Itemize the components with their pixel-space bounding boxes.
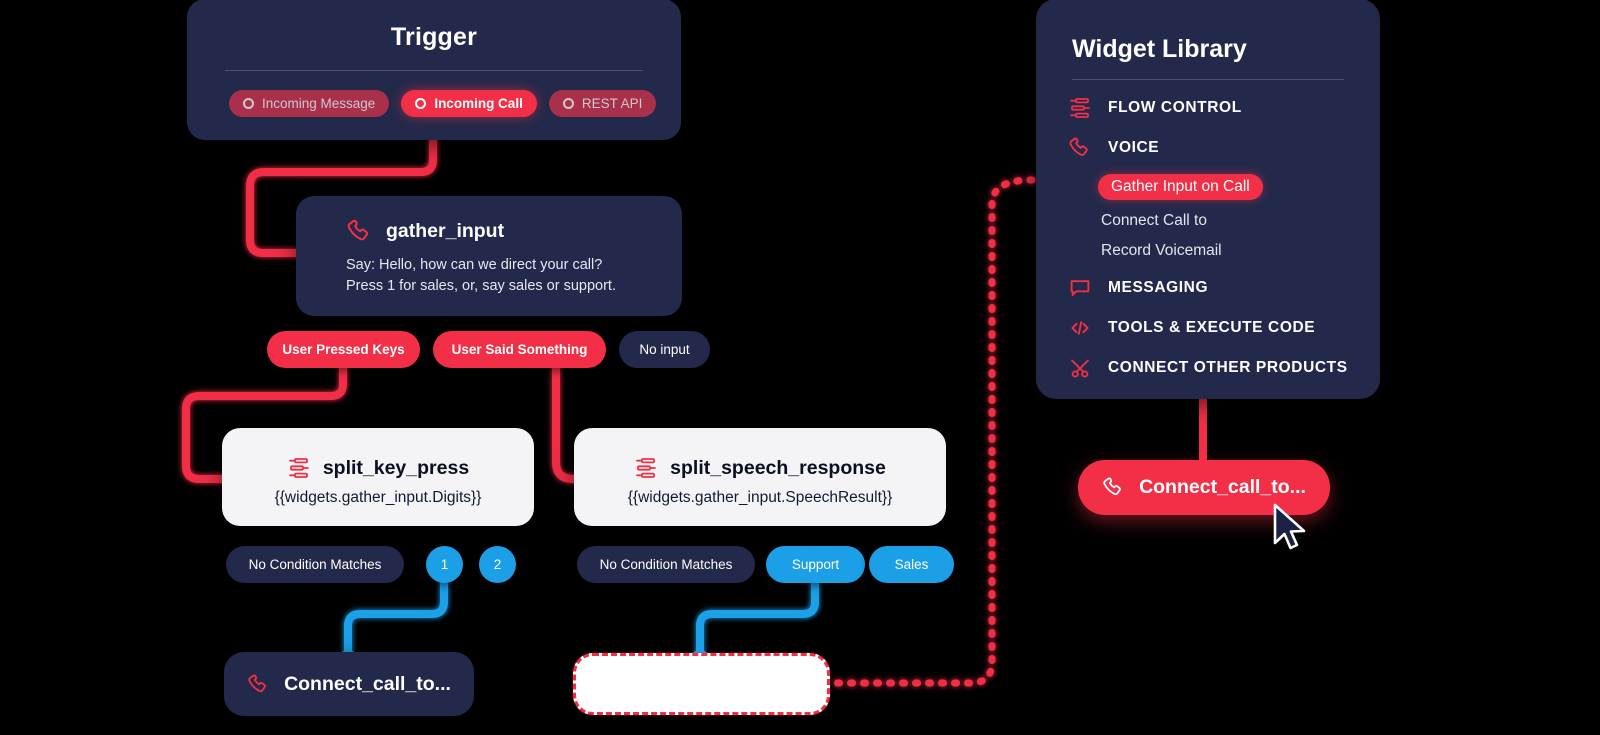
arrow-pointer-icon [1272,503,1312,553]
flow-canvas[interactable]: Trigger Incoming Message Incoming Call R… [0,0,1600,735]
widget-drop-zone[interactable] [573,653,830,715]
node-body-line-1: Say: Hello, how can we direct your call? [346,255,682,276]
widget-item-gather-input-on-call[interactable]: Gather Input on Call [1098,174,1263,200]
divider [225,70,643,71]
node-body: Say: Hello, how can we direct your call?… [346,255,682,296]
widget-item-label: Record Voicemail [1101,242,1222,259]
message-icon [1068,276,1092,300]
trigger-title: Trigger [187,23,681,52]
node-title: Connect_call_to... [284,673,451,696]
node-split-key-press[interactable]: split_key_press {{widgets.gather_input.D… [222,428,534,526]
trigger-pill-row: Incoming Message Incoming Call REST API [229,90,681,117]
transition-label: No Condition Matches [600,557,733,572]
transition-label: No Condition Matches [249,557,382,572]
transition-user-pressed-keys[interactable]: User Pressed Keys [267,331,420,368]
trigger-pill-incoming-message[interactable]: Incoming Message [229,90,389,117]
widget-item-label: Connect Call to [1101,212,1207,229]
phone-icon [346,218,373,245]
transition-no-condition-matches-key[interactable]: No Condition Matches [226,546,404,583]
widget-category-flow-control[interactable]: FLOW CONTROL [1068,96,1380,120]
transition-support[interactable]: Support [766,546,865,583]
node-title: gather_input [386,220,504,243]
trigger-pill-label: Incoming Call [434,96,523,111]
transition-key-1[interactable]: 1 [426,546,463,583]
phone-icon [1068,136,1092,160]
trigger-pill-label: REST API [582,96,643,111]
transition-label: Support [792,557,839,572]
widget-category-messaging[interactable]: MESSAGING [1068,276,1380,300]
node-expression: {{widgets.gather_input.SpeechResult}} [574,489,946,507]
transition-no-condition-matches-speech[interactable]: No Condition Matches [577,546,755,583]
radio-icon [415,98,426,109]
node-expression: {{widgets.gather_input.Digits}} [222,489,534,507]
widget-category-label: MESSAGING [1108,279,1208,297]
transition-key-2[interactable]: 2 [479,546,516,583]
trigger-pill-incoming-call[interactable]: Incoming Call [401,90,537,117]
widget-library-panel[interactable]: Widget Library FLOW CONTROL VOICE Gather… [1036,0,1380,399]
widget-item-connect-call-to[interactable]: Connect Call to [1101,212,1380,230]
node-title: split_key_press [323,457,469,480]
radio-icon [563,98,574,109]
radio-icon [243,98,254,109]
node-title: Connect_call_to... [1139,476,1306,499]
connect-products-icon [1068,356,1092,380]
node-header: split_key_press [222,456,534,480]
flow-control-icon [287,456,311,480]
phone-icon [1102,476,1125,499]
widget-category-label: CONNECT OTHER PRODUCTS [1108,359,1348,377]
node-header: gather_input [346,218,682,245]
transition-label: User Said Something [452,342,588,357]
widget-category-connect-other-products[interactable]: CONNECT OTHER PRODUCTS [1068,356,1380,380]
transition-label: 1 [441,557,449,572]
node-header: split_speech_response [574,456,946,480]
phone-icon [247,673,270,696]
widget-category-voice[interactable]: VOICE [1068,136,1380,160]
trigger-pill-rest-api[interactable]: REST API [549,90,657,117]
node-connect-call-to[interactable]: Connect_call_to... [224,652,474,716]
transition-label: User Pressed Keys [282,342,404,357]
transition-sales[interactable]: Sales [869,546,954,583]
trigger-pill-label: Incoming Message [262,96,375,111]
trigger-card[interactable]: Trigger Incoming Message Incoming Call R… [187,0,681,140]
flow-control-icon [634,456,658,480]
node-header: Connect_call_to... [224,652,474,716]
widget-item-record-voicemail[interactable]: Record Voicemail [1101,242,1380,260]
node-body-line-2: Press 1 for sales, or, say sales or supp… [346,276,682,297]
transition-no-input[interactable]: No input [619,331,710,368]
code-icon [1068,316,1092,340]
transition-label: No input [639,342,689,357]
node-gather-input[interactable]: gather_input Say: Hello, how can we dire… [296,196,682,316]
divider [1072,79,1344,80]
widget-category-label: VOICE [1108,139,1159,157]
transition-label: 2 [494,557,502,572]
node-split-speech-response[interactable]: split_speech_response {{widgets.gather_i… [574,428,946,526]
widget-category-label: TOOLS & EXECUTE CODE [1108,319,1315,337]
widget-item-label: Gather Input on Call [1111,178,1250,195]
node-title: split_speech_response [670,457,886,480]
widget-library-title: Widget Library [1072,35,1380,64]
transition-label: Sales [895,557,929,572]
widget-category-label: FLOW CONTROL [1108,99,1242,117]
flow-control-icon [1068,96,1092,120]
transition-user-said-something[interactable]: User Said Something [433,331,606,368]
widget-category-tools-execute-code[interactable]: TOOLS & EXECUTE CODE [1068,316,1380,340]
